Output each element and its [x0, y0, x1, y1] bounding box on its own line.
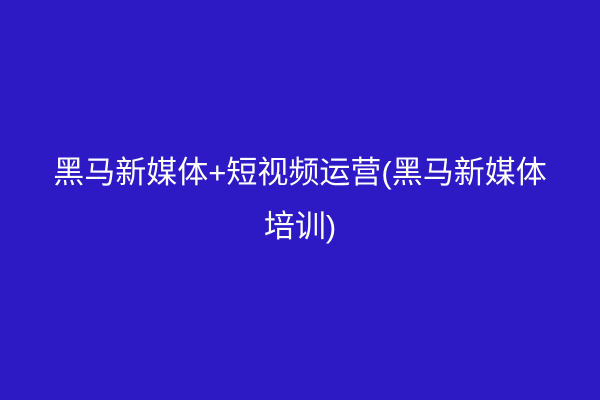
banner-title: 黑马新媒体+短视频运营(黑马新媒体培训) — [40, 146, 560, 254]
banner-card: 黑马新媒体+短视频运营(黑马新媒体培训) — [0, 0, 600, 400]
